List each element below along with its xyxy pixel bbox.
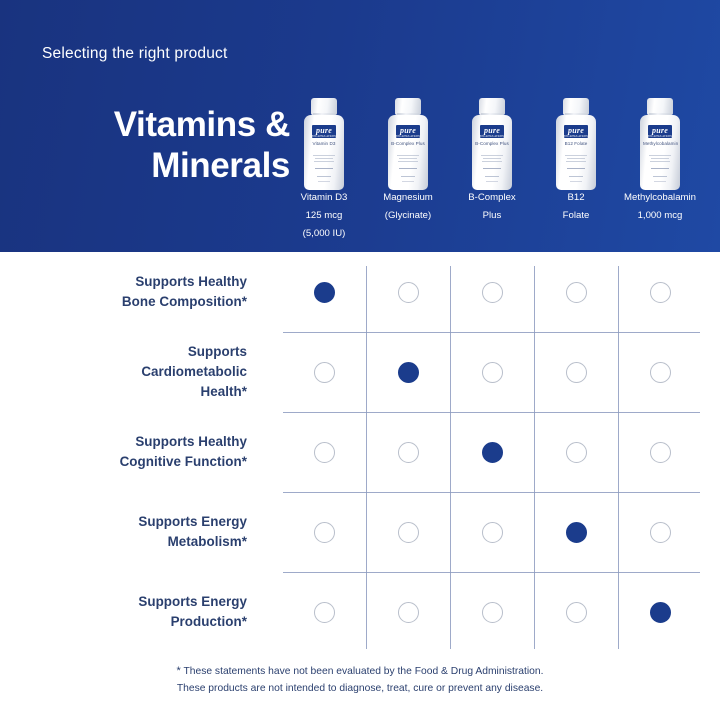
hero-banner: Selecting the right product Vitamins & M… bbox=[0, 0, 720, 252]
indicator-dot-empty bbox=[398, 522, 419, 543]
bottle-label-line bbox=[399, 168, 417, 169]
hero-eyebrow: Selecting the right product bbox=[42, 45, 227, 63]
benefit-cells bbox=[282, 332, 702, 412]
brand-logo: pure ENCAPSULATIONS bbox=[396, 125, 420, 138]
product-name: Methylcobalamin bbox=[618, 189, 702, 207]
indicator-dot-filled bbox=[482, 442, 503, 463]
product-bottle-row: pure ENCAPSULATIONS Vitamin D3 bbox=[282, 92, 702, 190]
page-title: Vitamins & Minerals bbox=[20, 104, 290, 187]
benefit-label-line-1: Supports bbox=[0, 342, 247, 362]
bottle-label-line bbox=[567, 158, 585, 159]
bottle-label-line bbox=[398, 161, 418, 162]
indicator-dot-empty bbox=[314, 602, 335, 623]
table-row: Supports Healthy Bone Composition* bbox=[0, 252, 720, 332]
bottle-label-line bbox=[569, 176, 583, 177]
bottle-label-line bbox=[654, 181, 666, 182]
supplement-bottle-icon: pure ENCAPSULATIONS B-Complex Plus bbox=[388, 98, 428, 190]
matrix-cell[interactable] bbox=[534, 362, 618, 383]
brand-logo-text: pure bbox=[568, 126, 584, 135]
product-name: B12 bbox=[534, 189, 618, 207]
bottle-label-line bbox=[486, 181, 498, 182]
benefit-cells bbox=[282, 252, 702, 332]
table-row: Supports Energy Production* bbox=[0, 572, 720, 652]
product-bottle-cell-4: pure ENCAPSULATIONS B12 Folate bbox=[534, 92, 618, 190]
bottle-label-line bbox=[565, 155, 587, 156]
product-dose: Plus bbox=[450, 207, 534, 225]
indicator-dot-empty bbox=[566, 602, 587, 623]
bottle-label-line bbox=[649, 155, 671, 156]
bottle-label-line bbox=[315, 168, 333, 169]
bottle-product-name: B12 Folate bbox=[559, 141, 593, 146]
benefit-label: Supports Energy Production* bbox=[0, 592, 265, 632]
bottle-label-line bbox=[318, 181, 330, 182]
benefit-label-line-1: Supports Energy bbox=[0, 512, 247, 532]
benefit-label: Supports Energy Metabolism* bbox=[0, 512, 265, 552]
benefit-label-line-1: Supports Energy bbox=[0, 592, 247, 612]
supplement-bottle-icon: pure ENCAPSULATIONS Methylcobalamin bbox=[640, 98, 680, 190]
matrix-cell[interactable] bbox=[534, 442, 618, 463]
matrix-cell[interactable] bbox=[450, 282, 534, 303]
bottle-label-line bbox=[650, 161, 670, 162]
benefit-cells bbox=[282, 412, 702, 492]
page-title-line-2: Minerals bbox=[20, 145, 290, 186]
brand-logo-text: pure bbox=[316, 126, 332, 135]
product-selection-infographic: Selecting the right product Vitamins & M… bbox=[0, 0, 720, 705]
brand-logo-text: pure bbox=[484, 126, 500, 135]
matrix-cell[interactable] bbox=[618, 282, 702, 303]
product-column-header-5: Methylcobalamin 1,000 mcg bbox=[618, 189, 702, 243]
bottle-label-line bbox=[314, 161, 334, 162]
bottle-product-name: Vitamin D3 bbox=[307, 141, 341, 146]
brand-logo-subtext: ENCAPSULATIONS bbox=[480, 135, 504, 138]
indicator-dot-filled bbox=[566, 522, 587, 543]
matrix-cell[interactable] bbox=[534, 282, 618, 303]
bottle-label-line bbox=[567, 168, 585, 169]
bottle-label-line bbox=[483, 158, 501, 159]
matrix-cell[interactable] bbox=[282, 362, 366, 383]
matrix-cell[interactable] bbox=[534, 522, 618, 543]
matrix-cell[interactable] bbox=[366, 522, 450, 543]
matrix-cell[interactable] bbox=[618, 602, 702, 623]
bottle-label-line bbox=[653, 176, 667, 177]
brand-logo: pure ENCAPSULATIONS bbox=[480, 125, 504, 138]
table-row: Supports Healthy Cognitive Function* bbox=[0, 412, 720, 492]
table-row: Supports Energy Metabolism* bbox=[0, 492, 720, 572]
product-column-header-2: Magnesium (Glycinate) bbox=[366, 189, 450, 243]
bottle-label-line bbox=[315, 158, 333, 159]
brand-logo: pure ENCAPSULATIONS bbox=[648, 125, 672, 138]
disclaimer-line-1: * These statements have not been evaluat… bbox=[0, 663, 720, 680]
matrix-cell[interactable] bbox=[366, 442, 450, 463]
brand-logo: pure ENCAPSULATIONS bbox=[312, 125, 336, 138]
matrix-cell[interactable] bbox=[282, 522, 366, 543]
indicator-dot-empty bbox=[398, 602, 419, 623]
indicator-dot-empty bbox=[566, 282, 587, 303]
product-column-header-3: B-Complex Plus bbox=[450, 189, 534, 243]
product-column-headers: Vitamin D3 125 mcg (5,000 IU) Magnesium … bbox=[282, 189, 702, 243]
benefit-label-line-3: Health* bbox=[0, 382, 247, 402]
indicator-dot-empty bbox=[398, 442, 419, 463]
bottle-product-name: Methylcobalamin bbox=[643, 141, 677, 146]
supplement-bottle-icon: pure ENCAPSULATIONS Vitamin D3 bbox=[304, 98, 344, 190]
benefit-label: Supports Healthy Bone Composition* bbox=[0, 272, 265, 312]
bottle-product-name: B-Complex Plus bbox=[475, 141, 509, 146]
indicator-dot-empty bbox=[314, 522, 335, 543]
bottle-product-name: B-Complex Plus bbox=[391, 141, 425, 146]
indicator-dot-filled bbox=[398, 362, 419, 383]
disclaimer-text-1: These statements have not been evaluated… bbox=[183, 666, 543, 677]
benefit-cells bbox=[282, 492, 702, 572]
bottle-label-line bbox=[483, 168, 501, 169]
product-bottle-cell-5: pure ENCAPSULATIONS Methylcobalamin bbox=[618, 92, 702, 190]
indicator-dot-empty bbox=[650, 282, 671, 303]
indicator-dot-empty bbox=[566, 362, 587, 383]
supplement-bottle-icon: pure ENCAPSULATIONS B12 Folate bbox=[556, 98, 596, 190]
bottle-label-line bbox=[651, 158, 669, 159]
page-title-line-1: Vitamins & bbox=[20, 104, 290, 145]
benefit-comparison-matrix: Supports Healthy Bone Composition* Suppo… bbox=[0, 252, 720, 652]
table-row: Supports Cardiometabolic Health* bbox=[0, 332, 720, 412]
brand-logo-text: pure bbox=[400, 126, 416, 135]
indicator-dot-empty bbox=[398, 282, 419, 303]
product-name: Magnesium bbox=[366, 189, 450, 207]
bottle-label-line bbox=[651, 168, 669, 169]
matrix-cell[interactable] bbox=[618, 442, 702, 463]
bottle-label-line bbox=[482, 161, 502, 162]
indicator-dot-empty bbox=[650, 362, 671, 383]
bottle-label-line bbox=[481, 155, 503, 156]
disclaimer: * These statements have not been evaluat… bbox=[0, 663, 720, 697]
matrix-cell[interactable] bbox=[282, 442, 366, 463]
brand-logo-text: pure bbox=[652, 126, 668, 135]
matrix-cell[interactable] bbox=[282, 282, 366, 303]
matrix-cell[interactable] bbox=[618, 522, 702, 543]
bottle-label-line bbox=[401, 176, 415, 177]
brand-logo-subtext: ENCAPSULATIONS bbox=[564, 135, 588, 138]
product-bottle-cell-2: pure ENCAPSULATIONS B-Complex Plus bbox=[366, 92, 450, 190]
matrix-rows: Supports Healthy Bone Composition* Suppo… bbox=[0, 252, 720, 652]
benefit-label-line-2: Production* bbox=[0, 612, 247, 632]
product-dose: Folate bbox=[534, 207, 618, 225]
matrix-cell[interactable] bbox=[366, 362, 450, 383]
brand-logo-subtext: ENCAPSULATIONS bbox=[648, 135, 672, 138]
disclaimer-line-2: These products are not intended to diagn… bbox=[0, 680, 720, 697]
bottle-label-line bbox=[566, 161, 586, 162]
product-dose: 1,000 mcg bbox=[618, 207, 702, 225]
indicator-dot-filled bbox=[650, 602, 671, 623]
matrix-cell[interactable] bbox=[450, 442, 534, 463]
indicator-dot-empty bbox=[482, 362, 503, 383]
matrix-cell[interactable] bbox=[618, 362, 702, 383]
bottle-label-line bbox=[570, 181, 582, 182]
product-name: Vitamin D3 bbox=[282, 189, 366, 207]
indicator-dot-filled bbox=[314, 282, 335, 303]
matrix-cell[interactable] bbox=[366, 282, 450, 303]
indicator-dot-empty bbox=[314, 362, 335, 383]
product-name: B-Complex bbox=[450, 189, 534, 207]
product-dose: (Glycinate) bbox=[366, 207, 450, 225]
product-dose-alt: (5,000 IU) bbox=[282, 225, 366, 243]
benefit-cells bbox=[282, 572, 702, 652]
bottle-label-line bbox=[402, 181, 414, 182]
benefit-label-line-2: Cardiometabolic bbox=[0, 362, 247, 382]
benefit-label-line-2: Cognitive Function* bbox=[0, 452, 247, 472]
benefit-label-line-2: Metabolism* bbox=[0, 532, 247, 552]
matrix-cell[interactable] bbox=[366, 602, 450, 623]
supplement-bottle-icon: pure ENCAPSULATIONS B-Complex Plus bbox=[472, 98, 512, 190]
product-column-header-4: B12 Folate bbox=[534, 189, 618, 243]
indicator-dot-empty bbox=[482, 602, 503, 623]
bottle-label-line bbox=[397, 155, 419, 156]
bottle-label-line bbox=[485, 176, 499, 177]
benefit-label-line-2: Bone Composition* bbox=[0, 292, 247, 312]
brand-logo-subtext: ENCAPSULATIONS bbox=[396, 135, 420, 138]
benefit-label: Supports Cardiometabolic Health* bbox=[0, 342, 265, 402]
indicator-dot-empty bbox=[650, 522, 671, 543]
brand-logo-subtext: ENCAPSULATIONS bbox=[312, 135, 336, 138]
bottle-label-line bbox=[317, 176, 331, 177]
matrix-cell[interactable] bbox=[282, 602, 366, 623]
matrix-cell[interactable] bbox=[450, 522, 534, 543]
indicator-dot-empty bbox=[482, 522, 503, 543]
benefit-label-line-1: Supports Healthy bbox=[0, 432, 247, 452]
benefit-label: Supports Healthy Cognitive Function* bbox=[0, 432, 265, 472]
indicator-dot-empty bbox=[314, 442, 335, 463]
bottle-label-line bbox=[313, 155, 335, 156]
benefit-label-line-1: Supports Healthy bbox=[0, 272, 247, 292]
bottle-label-line bbox=[399, 158, 417, 159]
matrix-cell[interactable] bbox=[450, 602, 534, 623]
product-bottle-cell-1: pure ENCAPSULATIONS Vitamin D3 bbox=[282, 92, 366, 190]
indicator-dot-empty bbox=[650, 442, 671, 463]
product-bottle-cell-3: pure ENCAPSULATIONS B-Complex Plus bbox=[450, 92, 534, 190]
matrix-cell[interactable] bbox=[450, 362, 534, 383]
product-column-header-1: Vitamin D3 125 mcg (5,000 IU) bbox=[282, 189, 366, 243]
brand-logo: pure ENCAPSULATIONS bbox=[564, 125, 588, 138]
indicator-dot-empty bbox=[482, 282, 503, 303]
asterisk-marker: * bbox=[176, 665, 180, 677]
matrix-cell[interactable] bbox=[534, 602, 618, 623]
indicator-dot-empty bbox=[566, 442, 587, 463]
product-dose: 125 mcg bbox=[282, 207, 366, 225]
